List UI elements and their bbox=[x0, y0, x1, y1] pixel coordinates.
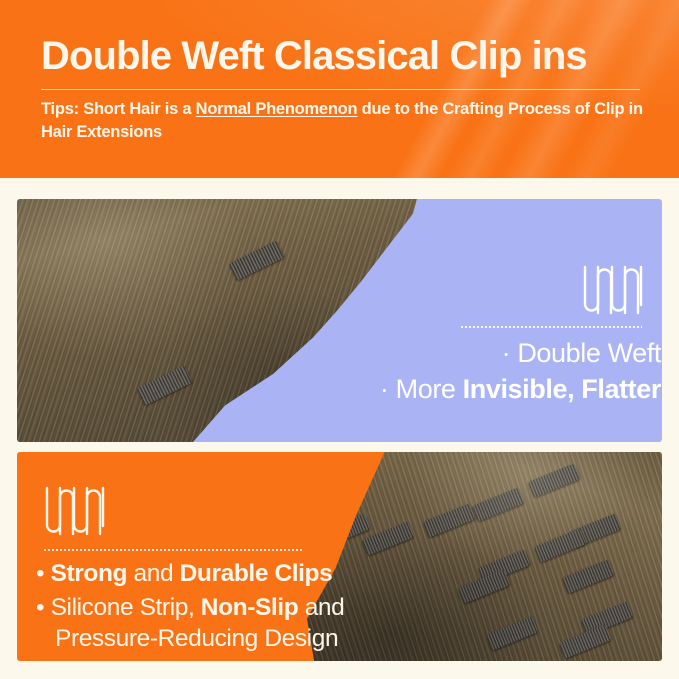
clips-feature-1: • Strong and Durable Clips bbox=[36, 559, 436, 590]
hair-clip-icon bbox=[362, 521, 415, 555]
weft-dotted-divider bbox=[461, 326, 642, 328]
clips-feature-3: Pressure-Reducing Design bbox=[36, 624, 436, 655]
hair-wave-icon bbox=[582, 265, 644, 315]
hair-clip-icon bbox=[562, 559, 615, 593]
clips-dotted-divider bbox=[44, 549, 303, 551]
hair-clip-icon bbox=[581, 601, 634, 635]
subtitle-part-1: Tips: Short Hair is a bbox=[41, 100, 196, 118]
weft-feature-1: · Double Weft bbox=[241, 337, 661, 370]
clips-feature-2-bold: Non-Slip bbox=[201, 594, 299, 621]
hair-clip-icon bbox=[569, 513, 622, 547]
header-subtitle: Tips: Short Hair is a Normal Phenomenon … bbox=[41, 98, 644, 144]
hair-clip-icon bbox=[423, 503, 476, 537]
weft-feature-2-bold: Invisible, Flatter bbox=[463, 374, 661, 404]
page-title: Double Weft Classical Clip ins bbox=[41, 35, 651, 77]
weft-feature-list: · Double Weft · More Invisible, Flatter bbox=[241, 337, 661, 406]
hair-wave-icon bbox=[44, 486, 106, 536]
hair-clip-icon bbox=[534, 528, 587, 562]
clips-feature-2: • Silicone Strip, Non-Slip and bbox=[36, 593, 436, 624]
hair-clip-icon bbox=[528, 463, 581, 497]
hair-clip-icon bbox=[559, 624, 612, 658]
hair-clip-icon bbox=[318, 513, 371, 547]
clips-feature-2-suffix: and bbox=[298, 594, 344, 621]
hair-clip-icon bbox=[472, 487, 525, 521]
weft-feature-2: · More Invisible, Flatter bbox=[241, 373, 661, 406]
header-banner: Double Weft Classical Clip ins Tips: Sho… bbox=[0, 0, 679, 178]
header-divider bbox=[41, 89, 640, 90]
clips-feature-list: • Strong and Durable Clips • Silicone St… bbox=[36, 559, 436, 655]
clips-feature-1-bold-b: Durable Clips bbox=[180, 560, 333, 587]
weft-feature-2-prefix: · More bbox=[380, 374, 463, 404]
clips-feature-2-prefix: • Silicone Strip, bbox=[36, 594, 201, 621]
clips-feature-1-bold-a: Strong bbox=[51, 560, 128, 587]
subtitle-emphasis: Normal Phenomenon bbox=[196, 100, 358, 118]
hair-clip-icon bbox=[478, 549, 531, 583]
hair-clip-icon bbox=[458, 569, 511, 603]
clips-feature-1-mid: and bbox=[127, 560, 180, 587]
clips-bullet-1: • bbox=[36, 560, 51, 587]
hair-clip-icon bbox=[486, 616, 539, 650]
